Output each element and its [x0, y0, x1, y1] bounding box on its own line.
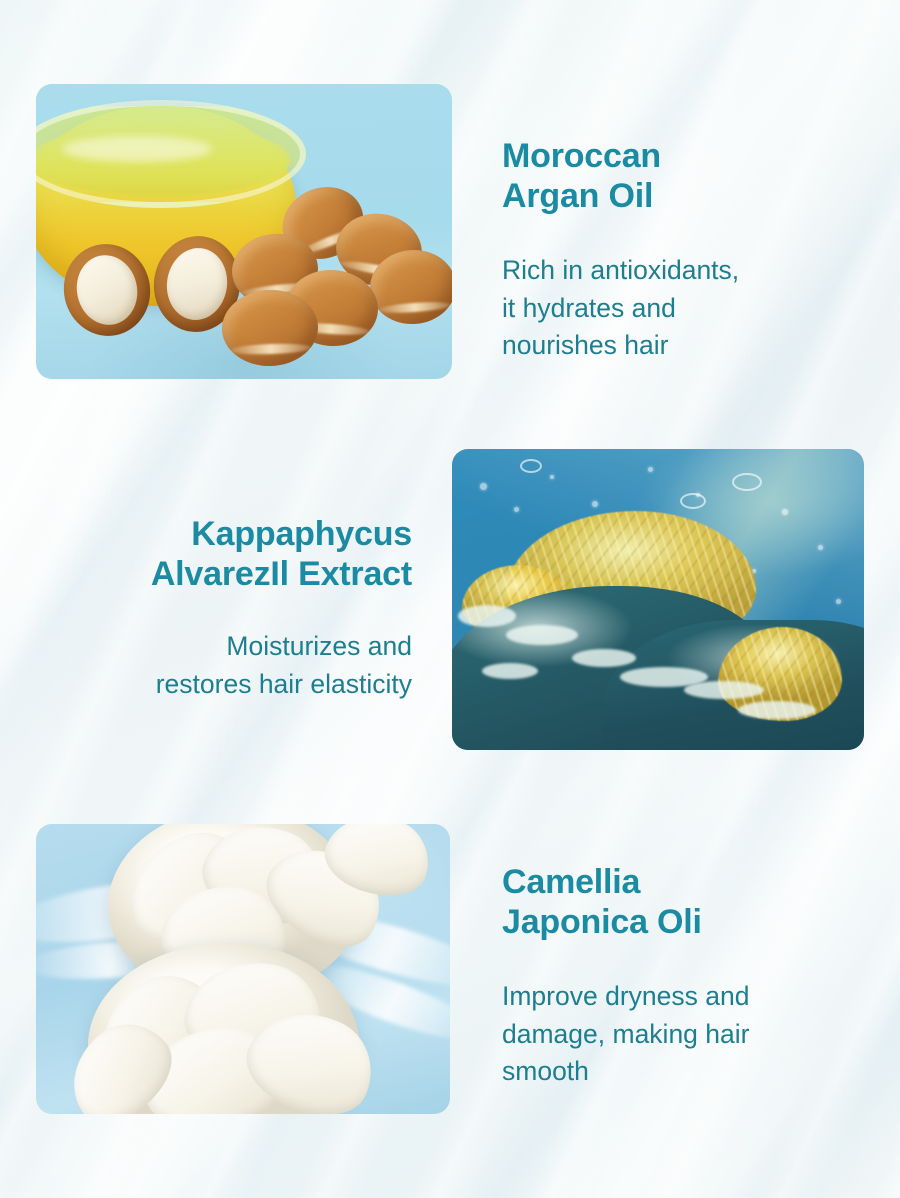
coral-crust-1 — [458, 605, 516, 627]
bubble-4 — [592, 501, 598, 507]
oil-highlight-shape — [62, 136, 212, 162]
infographic-page: MoroccanArgan Oil Rich in antioxidants,i… — [0, 0, 900, 1198]
argan-kernel-left — [70, 250, 143, 331]
seaweed-photo — [452, 449, 864, 750]
camellia-body-line-3: smooth — [502, 1056, 589, 1086]
camellia-body-line-2: damage, making hair — [502, 1019, 749, 1049]
argan-body-line-2: it hydrates and — [502, 293, 676, 323]
coral-crust-5 — [684, 681, 764, 699]
bubble-10 — [836, 599, 841, 604]
bubble-ring-2 — [680, 493, 706, 509]
kappaphycus-heading-line-1: Kappaphycus — [191, 515, 412, 553]
argan-nut-6 — [221, 288, 320, 367]
bubble-ring-3 — [732, 473, 762, 491]
camellia-heading: CamelliaJaponica Oli — [502, 862, 852, 942]
camellia-body-line-1: Improve dryness and — [502, 981, 749, 1011]
bubble-2 — [514, 507, 519, 512]
argan-kernel-right — [162, 244, 232, 325]
coral-crust-3 — [572, 649, 636, 667]
kappaphycus-body: Moisturizes andrestores hair elasticity — [56, 628, 412, 703]
coral-crust-6 — [738, 701, 816, 719]
argan-text-block: MoroccanArgan Oil Rich in antioxidants,i… — [502, 136, 842, 365]
camellia-heading-line-2: Japonica Oli — [502, 903, 702, 941]
argan-body-line-3: nourishes hair — [502, 330, 668, 360]
coral-crust-2 — [506, 625, 578, 645]
kappaphycus-heading-line-2: AlvarezIl Extract — [151, 555, 412, 593]
bubble-ring-1 — [520, 459, 542, 473]
bubble-8 — [818, 545, 823, 550]
kappaphycus-body-line-1: Moisturizes and — [226, 631, 412, 661]
camellia-text-block: CamelliaJaponica Oli Improve dryness and… — [502, 862, 852, 1091]
kappaphycus-text-block: KappaphycusAlvarezIl Extract Moisturizes… — [56, 514, 412, 703]
kappaphycus-body-line-2: restores hair elasticity — [156, 669, 412, 699]
camellia-photo — [36, 824, 450, 1114]
argan-heading: MoroccanArgan Oil — [502, 136, 842, 216]
camellia-heading-line-1: Camellia — [502, 863, 640, 901]
coral-crust-7 — [482, 663, 538, 679]
argan-heading-line-1: Moroccan — [502, 137, 661, 175]
camellia-body: Improve dryness anddamage, making hairsm… — [502, 978, 852, 1091]
bubble-1 — [480, 483, 487, 490]
argan-oil-photo — [36, 84, 452, 379]
argan-body-line-1: Rich in antioxidants, — [502, 255, 739, 285]
bubble-5 — [648, 467, 653, 472]
argan-heading-line-2: Argan Oil — [502, 177, 653, 215]
argan-body: Rich in antioxidants,it hydrates andnour… — [502, 252, 842, 365]
kappaphycus-heading: KappaphycusAlvarezIl Extract — [56, 514, 412, 594]
bubble-7 — [782, 509, 788, 515]
bubble-3 — [550, 475, 554, 479]
